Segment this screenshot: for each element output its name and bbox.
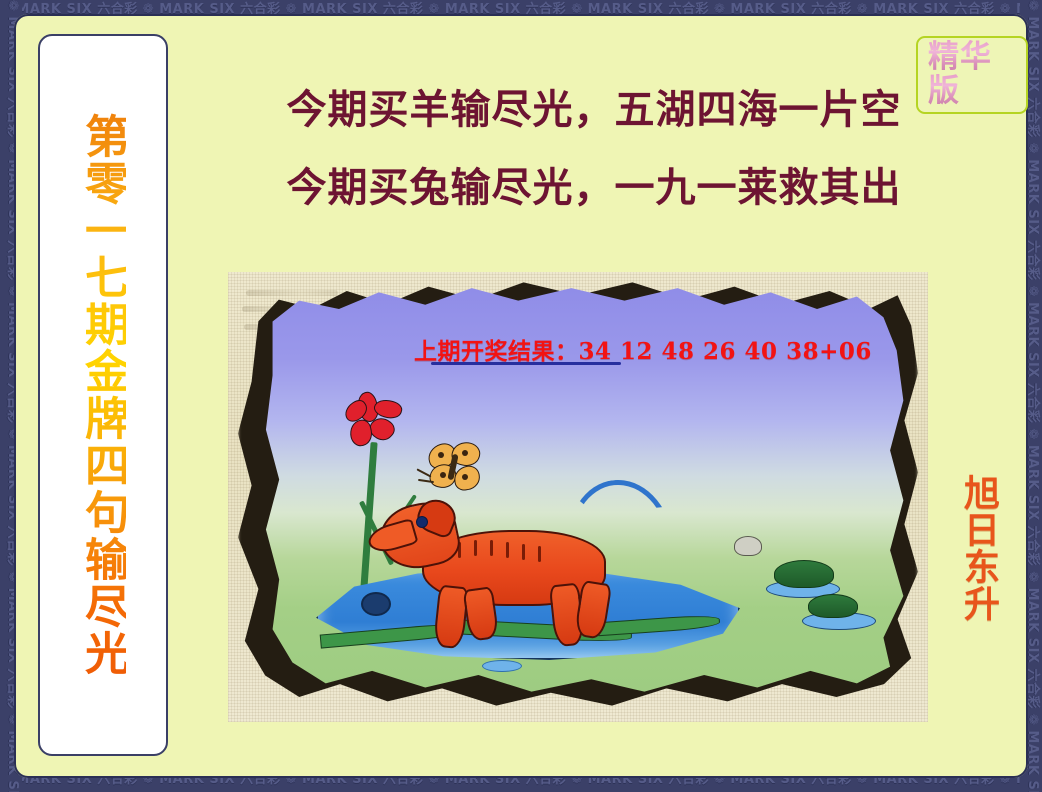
edition-badge-label: 精华版	[928, 39, 992, 109]
bush	[774, 560, 834, 588]
handwriting-scribble	[246, 290, 338, 296]
couplet-line-1: 今期买羊输尽光，五湖四海一片空	[254, 90, 934, 130]
vertical-title-text: 第零一七期金牌四句输尽光	[80, 113, 126, 677]
dog-stripe	[490, 540, 493, 556]
dog-stripe	[522, 544, 525, 560]
couplet-line-2: 今期买兔输尽光，一九一莱救其出	[254, 168, 934, 208]
couplet-block: 今期买羊输尽光，五湖四海一片空 今期买兔输尽光，一九一莱救其出	[254, 90, 934, 208]
small-rock	[734, 536, 762, 556]
dog-stripe	[506, 542, 509, 558]
vertical-slogan: 旭日东升	[920, 474, 998, 622]
water-ripple	[482, 660, 522, 672]
bush	[808, 594, 858, 618]
dog-illustration	[374, 490, 644, 640]
scene-artwork: 上期开奖结果：34 12 48 26 40 38+06	[246, 284, 910, 700]
dog-stripe	[474, 540, 477, 556]
poster-card: 第零一七期金牌四句输尽光 精华版 今期买羊输尽光，五湖四海一片空 今期买兔输尽光…	[14, 14, 1028, 778]
poster-root: ❁ MARK SIX 六合彩 ❁ MARK SIX 六合彩 ❁ MARK SIX…	[0, 0, 1042, 792]
butterfly-wing-dot	[462, 450, 468, 456]
result-underline	[431, 362, 621, 365]
last-draw-result: 上期开奖结果：34 12 48 26 40 38+06	[414, 332, 872, 366]
red-flower	[344, 392, 402, 450]
dog-eye	[416, 516, 428, 528]
illustration-panel: 上期开奖结果：34 12 48 26 40 38+06	[228, 272, 928, 722]
vertical-title-panel: 第零一七期金牌四句输尽光	[38, 34, 168, 756]
butterfly-wing-dot	[462, 474, 468, 480]
butterfly	[424, 442, 482, 494]
butterfly-wing-dot	[438, 452, 444, 458]
dog-stripe	[538, 546, 541, 562]
butterfly-wing-dot	[440, 472, 446, 478]
